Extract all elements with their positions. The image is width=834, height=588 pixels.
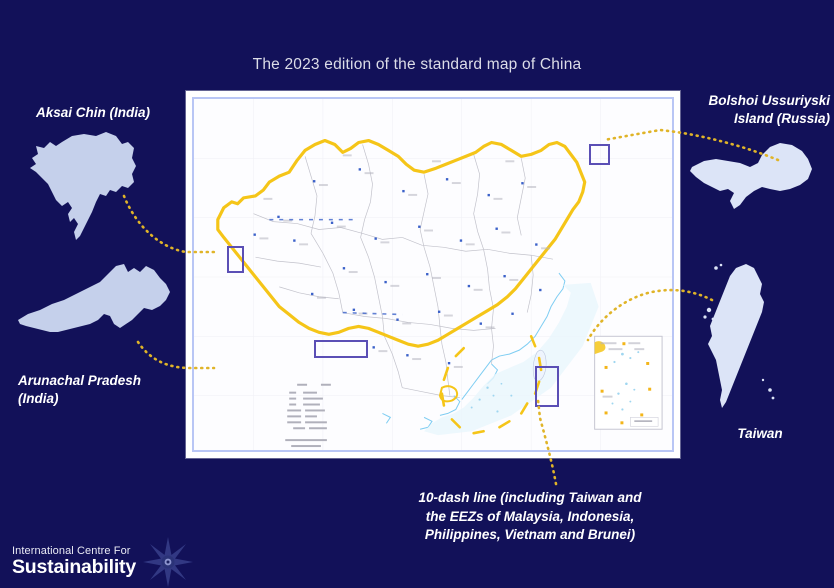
label-arunachal-pradesh: Arunachal Pradesh (India): [18, 372, 188, 408]
taiwan-shape: [700, 262, 786, 414]
label-ten-dash-line2: the EEZs of Malaysia, Indonesia,: [380, 508, 680, 527]
label-bolshoi-ussuriyski: Bolshoi Ussuriyski Island (Russia): [680, 92, 830, 128]
bolshoi-ussuriyski-shape: [686, 137, 822, 213]
map-inner-border: [192, 97, 674, 452]
label-arunachal-pradesh-line1: Arunachal Pradesh: [18, 372, 188, 390]
label-ten-dash-line3: Philippines, Vietnam and Brunei): [380, 526, 680, 545]
highlight-box-bolshoi-ussuriyski[interactable]: [589, 144, 610, 165]
label-ten-dash-line1: 10-dash line (including Taiwan and: [380, 489, 680, 508]
page-title: The 2023 edition of the standard map of …: [0, 56, 834, 74]
logo-text: International Centre For Sustainability: [12, 546, 136, 578]
south-china-sea-inset: [595, 336, 662, 429]
highlight-box-ten-dash-line[interactable]: [535, 366, 559, 407]
logo-line2: Sustainability: [12, 558, 136, 578]
arunachal-pradesh-shape: [14, 258, 176, 344]
map-frame: [186, 91, 680, 458]
aksai-chin-shape: [22, 128, 152, 244]
organization-logo: International Centre For Sustainability: [12, 536, 194, 588]
label-bolshoi-line1: Bolshoi Ussuriyski: [680, 92, 830, 110]
label-arunachal-pradesh-line2: (India): [18, 390, 188, 408]
highlight-box-arunachal-pradesh[interactable]: [314, 340, 368, 358]
label-taiwan: Taiwan: [690, 425, 830, 443]
label-bolshoi-line2: Island (Russia): [680, 110, 830, 128]
compass-star-icon: [142, 536, 194, 588]
label-aksai-chin: Aksai Chin (India): [0, 104, 186, 122]
highlight-box-aksai-chin[interactable]: [227, 246, 244, 273]
infographic-page: The 2023 edition of the standard map of …: [0, 0, 834, 588]
label-ten-dash-line: 10-dash line (including Taiwan and the E…: [380, 489, 680, 545]
